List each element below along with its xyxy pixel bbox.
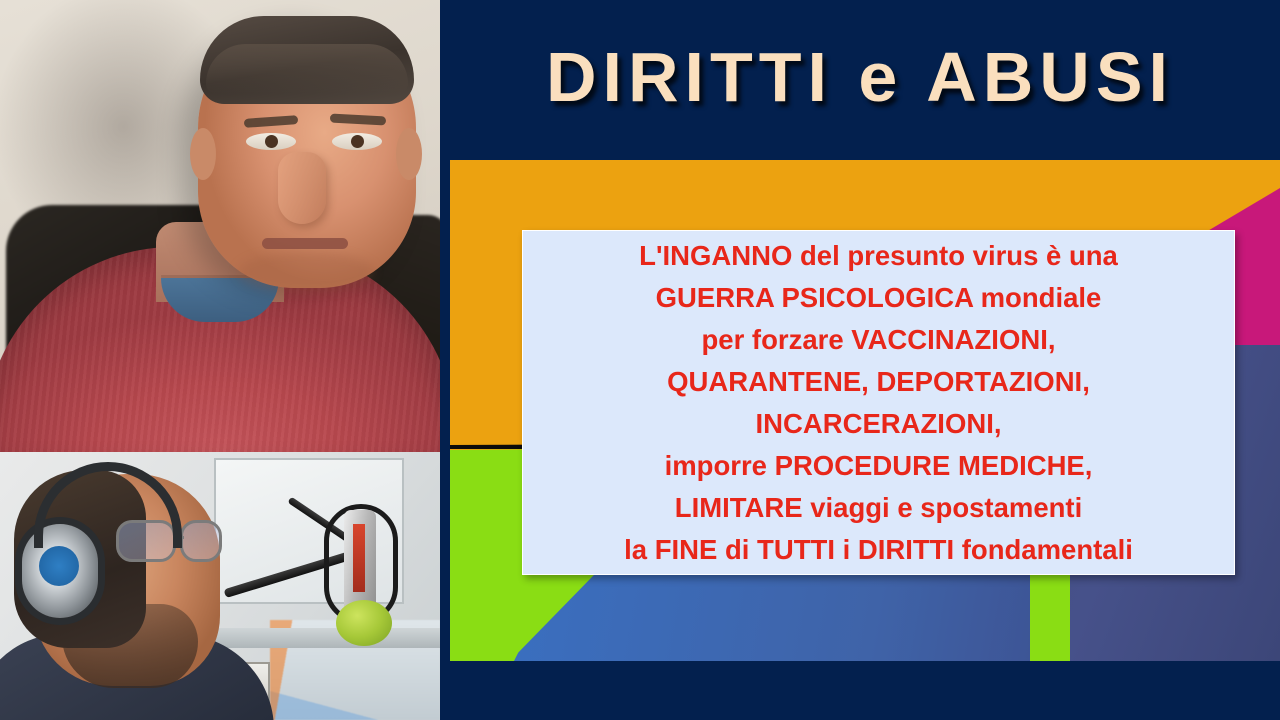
message-line: imporre PROCEDURE MEDICHE, <box>665 445 1093 487</box>
message-line: la FINE di TUTTI i DIRITTI fondamentali <box>624 529 1133 571</box>
eye-left <box>246 133 296 150</box>
message-line: GUERRA PSICOLOGICA mondiale <box>656 277 1102 319</box>
message-line: per forzare VACCINAZIONI, <box>702 319 1056 361</box>
nose <box>278 152 326 224</box>
message-line: L'INGANNO del presunto virus è una <box>639 235 1118 277</box>
studio-shelf <box>200 628 440 648</box>
webcam-feed-top[interactable]: Man in red knit sweater with blue unders… <box>0 0 440 452</box>
chin-shadow <box>238 252 374 292</box>
message-line: QUARANTENE, DEPORTAZIONI, <box>667 361 1090 403</box>
microphone-windscreen <box>336 600 392 646</box>
ear-right <box>396 128 422 180</box>
message-line: INCARCERAZIONI, <box>756 403 1002 445</box>
glasses-lens-right <box>180 520 222 562</box>
ear-left <box>190 128 216 180</box>
message-line: LIMITARE viaggi e spostamenti <box>675 487 1082 529</box>
slide-graphic-canvas: L'INGANNO del presunto virus è una GUERR… <box>450 160 1280 661</box>
webcam-column: Man in red knit sweater with blue unders… <box>0 0 440 720</box>
slide-title: DIRITTI e ABUSI <box>440 22 1280 132</box>
mouth <box>262 238 348 249</box>
webcam-feed-bottom[interactable]: Radio host wearing over-ear headphones a… <box>0 452 440 720</box>
eye-right <box>332 133 382 150</box>
hair <box>200 16 414 104</box>
presentation-slide: DIRITTI e ABUSI L'INGANNO del presunto v… <box>440 0 1280 720</box>
message-textbox: L'INGANNO del presunto virus è una GUERR… <box>522 230 1235 575</box>
video-call-stage: Man in red knit sweater with blue unders… <box>0 0 1280 720</box>
